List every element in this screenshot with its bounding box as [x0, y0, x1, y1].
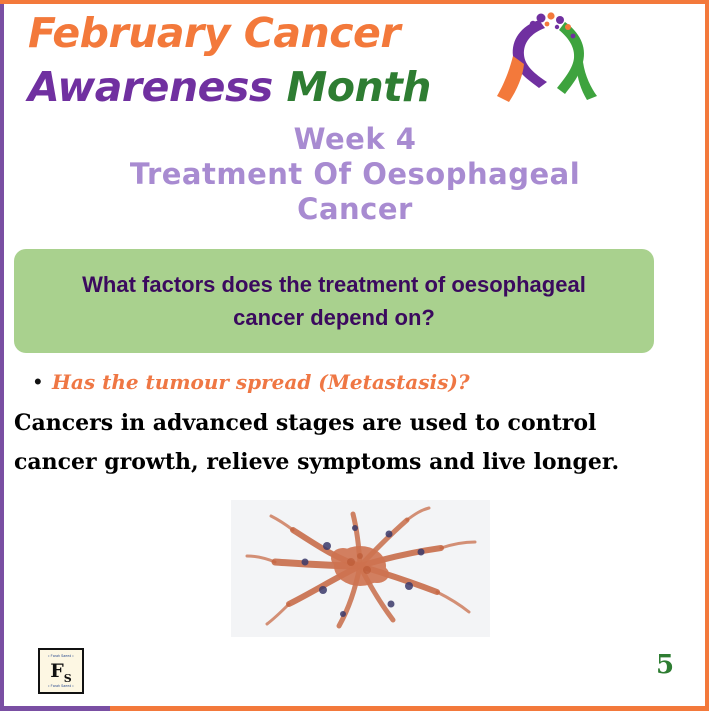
right-accent-border — [705, 0, 709, 711]
metastasis-micrograph-image — [231, 500, 490, 637]
slide-title: February Cancer Awareness Month — [28, 8, 498, 112]
question-callout-text: What factors does the treatment of oesop… — [64, 268, 604, 334]
body-paragraph: Cancers in advanced stages are used to c… — [14, 404, 684, 482]
week-heading-line-1: Week 4 — [40, 122, 670, 157]
title-word-month: Month — [287, 63, 431, 111]
author-logo-inner: • Farah Saeed • FS • Farah Saeed • — [40, 650, 82, 692]
title-word-february: February — [28, 9, 230, 57]
author-logo-monogram-f: F — [50, 660, 64, 682]
question-callout-box: What factors does the treatment of oesop… — [14, 249, 654, 353]
author-logo-monogram-s: S — [64, 672, 72, 685]
bullet-item: • Has the tumour spread (Metastasis)? — [34, 369, 674, 395]
bullet-marker: • — [34, 369, 52, 395]
page-number: 5 — [650, 650, 680, 680]
title-word-awareness: Awareness — [28, 63, 273, 111]
awareness-ribbon-icon — [487, 10, 602, 110]
week-heading-line-2: Treatment Of Oesophageal — [40, 157, 670, 192]
left-accent-border — [0, 0, 4, 711]
title-line-2: Awareness Month — [28, 62, 498, 112]
week-heading: Week 4 Treatment Of Oesophageal Cancer — [40, 122, 670, 227]
author-logo-bottom-text: • Farah Saeed • — [40, 684, 82, 688]
top-accent-border — [0, 0, 709, 4]
slide-canvas: February Cancer Awareness Month — [0, 0, 709, 711]
bullet-item-label: Has the tumour spread (Metastasis)? — [52, 369, 470, 395]
bottom-accent-border-orange — [110, 706, 709, 711]
author-logo-top-text: • Farah Saeed • — [40, 654, 82, 658]
author-logo: • Farah Saeed • FS • Farah Saeed • — [38, 648, 84, 694]
title-word-cancer: Cancer — [244, 9, 400, 57]
week-heading-line-3: Cancer — [40, 192, 670, 227]
title-line-1: February Cancer — [28, 8, 498, 58]
